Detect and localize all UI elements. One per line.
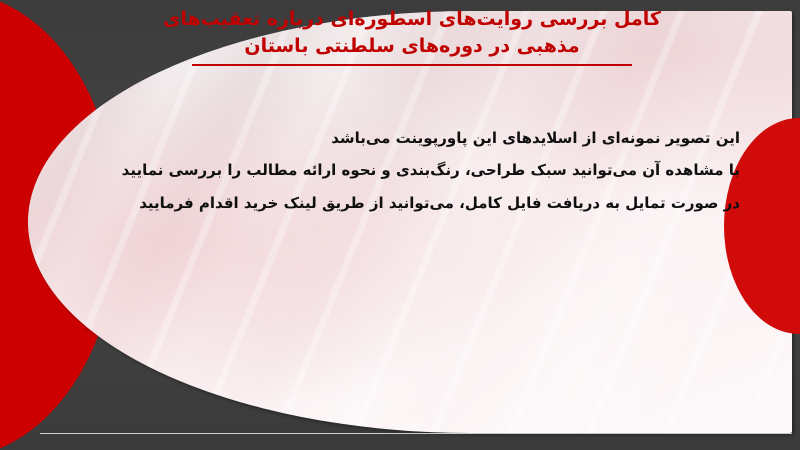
slide-canvas: کامل بررسی روایت‌های اسطوره‌ای درباره تع… — [0, 0, 800, 450]
body-line-2: با مشاهده آن می‌توانید سبک طراحی، رنگ‌بن… — [140, 154, 740, 186]
panel-bottom-edge-highlight — [40, 433, 792, 434]
slide-title-line-2: مذهبی در دوره‌های سلطنتی باستان — [120, 33, 704, 60]
body-line-3: در صورت تمایل به دریافت فایل کامل، می‌تو… — [140, 187, 740, 219]
slide-title-line-1: کامل بررسی روایت‌های اسطوره‌ای درباره تع… — [120, 6, 704, 33]
body-line-1: این تصویر نمونه‌ای از اسلایدهای این پاور… — [140, 122, 740, 154]
slide-body-text: این تصویر نمونه‌ای از اسلایدهای این پاور… — [140, 122, 740, 219]
title-underline-rule — [192, 64, 632, 66]
slide-content: کامل بررسی روایت‌های اسطوره‌ای درباره تع… — [0, 0, 800, 450]
slide-title: کامل بررسی روایت‌های اسطوره‌ای درباره تع… — [120, 6, 704, 66]
